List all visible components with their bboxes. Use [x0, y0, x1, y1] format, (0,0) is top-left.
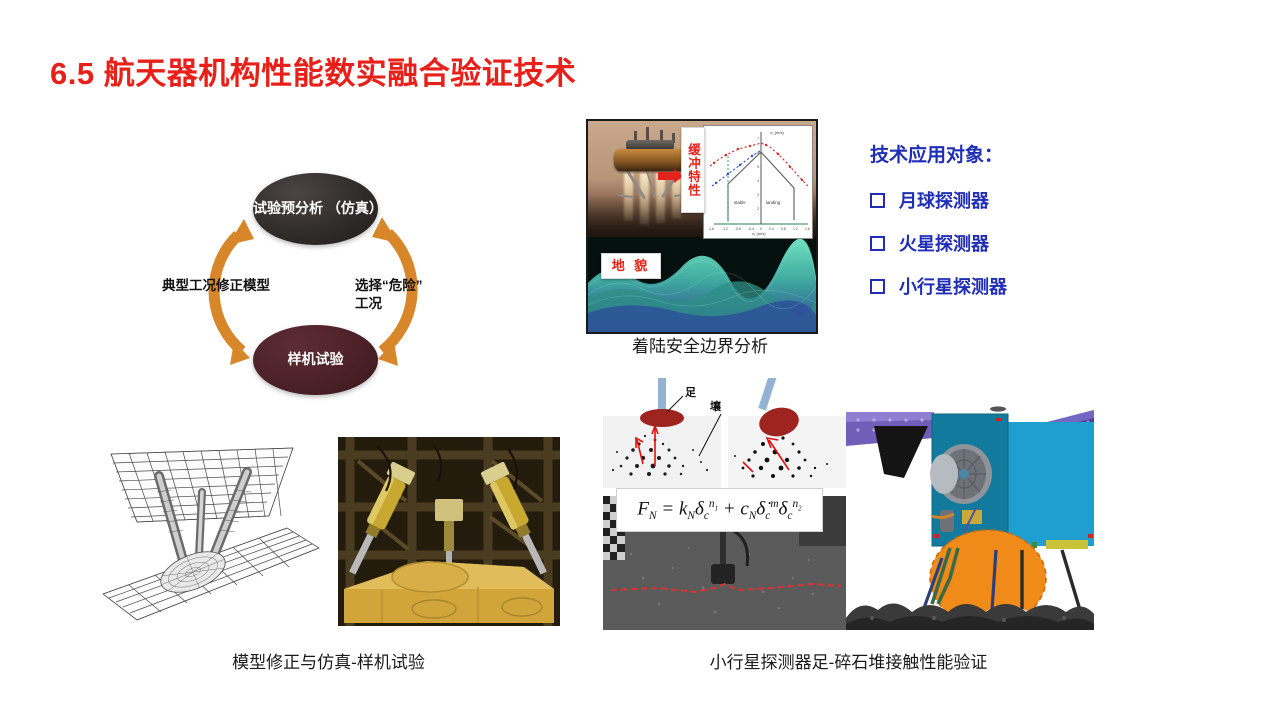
cycle-node-simulation-label: 试验预分析 （仿真） [253, 200, 378, 218]
svg-text:v₁ (m/s): v₁ (m/s) [752, 231, 766, 236]
application-item-label: 月球探测器 [899, 187, 989, 213]
cycle-node-prototype-test-label: 样机试验 [288, 351, 344, 369]
svg-text:0.8: 0.8 [781, 227, 786, 231]
cycle-arrow-label-left: 典型工况修正模型 [162, 277, 312, 295]
application-heading: 技术应用对象： [870, 140, 1170, 167]
label-soil: 壤 [710, 398, 721, 414]
iterative-verification-cycle: 试验预分析 （仿真） 样机试验 典型工况修正模型 选择“危险” 工况 [150, 155, 470, 410]
svg-text:-0.8: -0.8 [735, 227, 741, 231]
caption-landing-safety: 着陆安全边界分析 [586, 332, 814, 357]
figure-test-rig [338, 437, 560, 626]
svg-text:0.4: 0.4 [769, 227, 774, 231]
application-item-label: 小行星探测器 [899, 273, 1007, 299]
cycle-node-simulation: 试验预分析 （仿真） [253, 173, 378, 245]
svg-text:2: 2 [757, 207, 759, 211]
caption-fem-model: 模型修正与仿真-样机试验 [97, 648, 560, 673]
cycle-node-prototype-test: 样机试验 [253, 325, 378, 395]
svg-text:landing: landing [766, 200, 781, 205]
regolith-contact-image: 足 壤 FN = kNδcn1 + cNδ̇cmδcn2 [603, 378, 846, 630]
badge-buffer-characteristic: 缓冲特性 [681, 127, 705, 213]
checkbox-icon [870, 236, 885, 251]
cycle-arrow-label-right: 选择“危险” 工况 [355, 277, 465, 312]
landing-safety-image: v₂ (m/s) v₁ (m/s) stable landing -1.6-1.… [586, 119, 818, 334]
svg-text:1.6: 1.6 [805, 227, 810, 231]
contact-force-formula: FN = kNδcn1 + cNδ̇cmδcn2 [616, 488, 823, 532]
figure-fem-model [97, 432, 323, 628]
svg-text:-1.2: -1.2 [722, 227, 728, 231]
page-title: 6.5 航天器机构性能数实融合验证技术 [50, 48, 576, 93]
application-item-asteroid: 小行星探测器 [870, 273, 1170, 299]
figure-asteroid-probe [846, 382, 1094, 630]
slide-root: 6.5 航天器机构性能数实融合验证技术 试验预分析 （仿真） 样机试验 典型工况… [0, 0, 1280, 720]
svg-text:v₂ (m/s): v₂ (m/s) [770, 130, 784, 135]
svg-text:-0.4: -0.4 [748, 227, 754, 231]
test-rig-photo [338, 437, 560, 626]
asteroid-probe-image [846, 382, 1094, 630]
svg-text:4: 4 [757, 179, 759, 183]
svg-text:3: 3 [757, 193, 759, 197]
svg-text:-1.6: -1.6 [708, 227, 714, 231]
landing-boundary-chart: v₂ (m/s) v₁ (m/s) stable landing -1.6-1.… [703, 125, 813, 239]
svg-text:1.2: 1.2 [793, 227, 798, 231]
badge-terrain: 地 貌 [601, 253, 661, 279]
checkbox-icon [870, 193, 885, 208]
application-targets: 技术应用对象： 月球探测器 火星探测器 小行星探测器 [870, 140, 1170, 316]
svg-text:6: 6 [757, 151, 759, 155]
figure-landing-safety: v₂ (m/s) v₁ (m/s) stable landing -1.6-1.… [586, 119, 814, 330]
caption-regolith-contact: 小行星探测器足-碎石堆接触性能验证 [603, 648, 1094, 673]
application-item-lunar: 月球探测器 [870, 187, 1170, 213]
svg-text:stable: stable [734, 200, 746, 205]
svg-text:0: 0 [760, 227, 762, 231]
figure-regolith-contact: 足 壤 FN = kNδcn1 + cNδ̇cmδcn2 [603, 378, 846, 630]
checkbox-icon [870, 279, 885, 294]
terrain-surface-render [588, 237, 816, 332]
fem-wireframe-image [97, 432, 323, 628]
application-item-mars: 火星探测器 [870, 230, 1170, 256]
lander-body [614, 149, 686, 171]
svg-text:7: 7 [757, 137, 759, 141]
application-item-label: 火星探测器 [899, 230, 989, 256]
svg-text:5: 5 [757, 165, 759, 169]
label-foot: 足 [685, 384, 696, 400]
